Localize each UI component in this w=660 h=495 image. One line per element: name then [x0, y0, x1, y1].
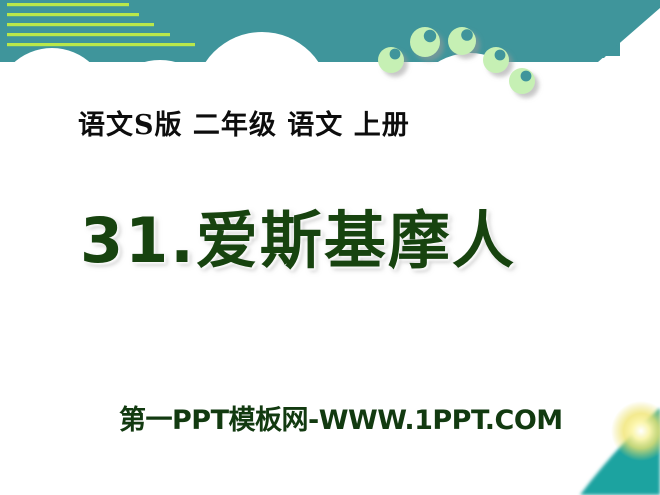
stripe-line-5 — [7, 43, 195, 46]
bubble-4 — [483, 47, 509, 73]
stripe-line-2 — [7, 13, 139, 16]
course-subtitle: 语文S版 二年级 语文 上册 — [78, 103, 410, 142]
bubble-1 — [378, 47, 404, 73]
bubble-3 — [448, 27, 476, 55]
stripe-line-1 — [7, 3, 129, 6]
corner-wedge — [580, 401, 660, 495]
presentation-slide: 语文S版 二年级 语文 上册 31.爱斯基摩人 第一PPT模板网-WWW.1PP… — [0, 0, 660, 495]
stripe-line-3 — [7, 23, 154, 26]
teal-sky-band — [0, 0, 660, 62]
bubble-5 — [509, 68, 535, 94]
page-title: 31.爱斯基摩人 — [80, 190, 516, 280]
stripe-line-4 — [7, 33, 170, 36]
site-watermark: 第一PPT模板网-WWW.1PPT.COM — [119, 398, 563, 437]
bubble-2 — [410, 27, 440, 57]
